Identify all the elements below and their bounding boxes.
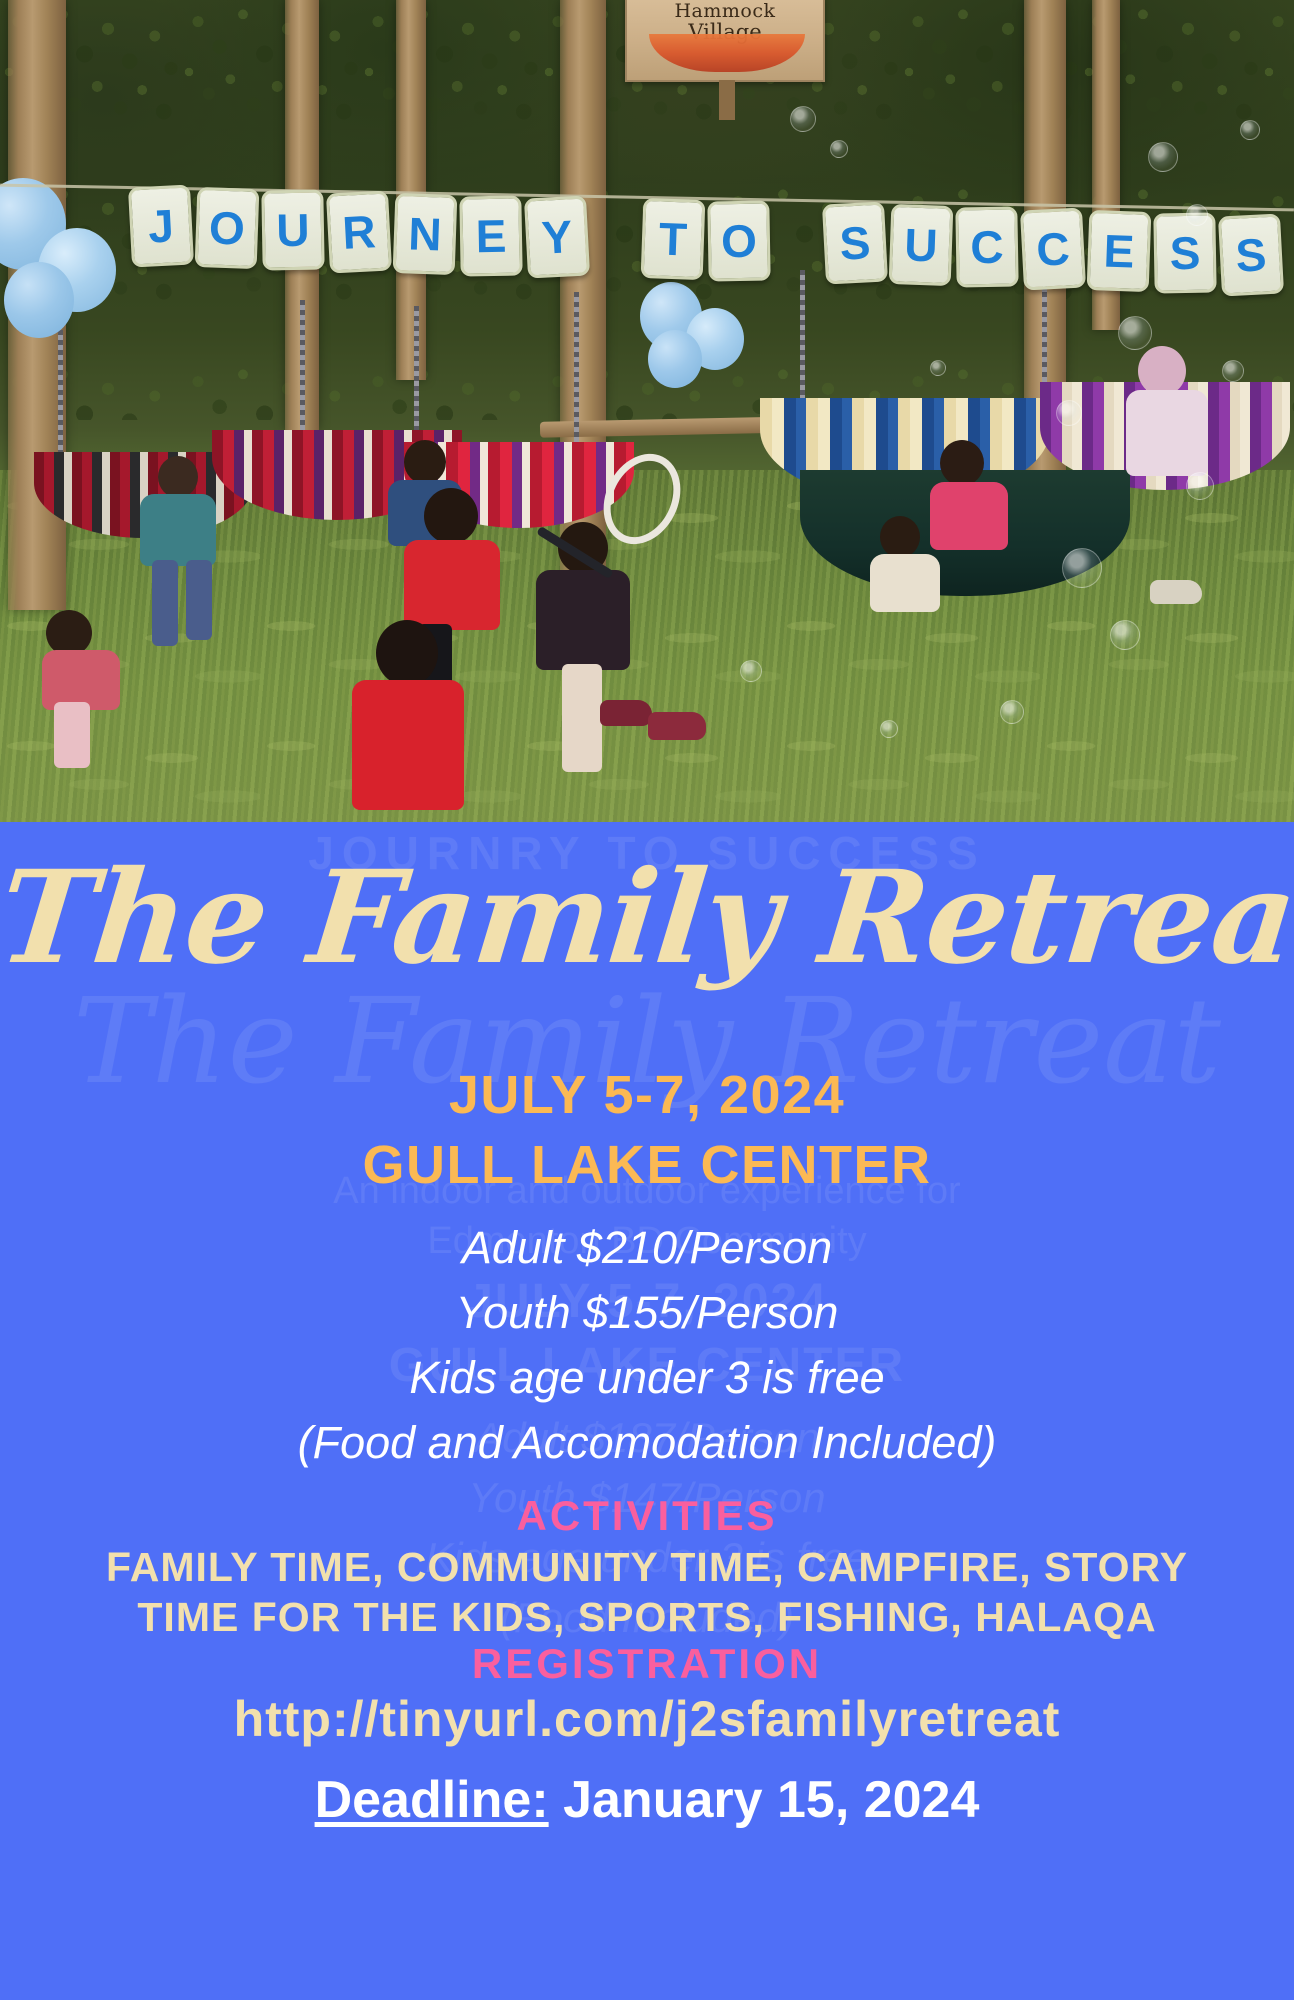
soap-bubble [930, 360, 946, 376]
shoe [648, 712, 706, 740]
event-location: GULL LAKE CENTER [0, 1134, 1294, 1196]
banner-letter-card: J [128, 184, 194, 267]
event-poster: Hammock Village [0, 0, 1294, 2000]
banner-letter-card: E [459, 195, 522, 276]
hammock-village-sign: Hammock Village [625, 0, 825, 82]
soap-bubble [1186, 204, 1208, 226]
poster-text-block: JOURNRY TO SUCCESS The Family Retreat An… [0, 822, 1294, 2000]
sign-hammock-graphic [649, 34, 805, 72]
hammock-chain [414, 306, 419, 446]
hammock-chain [800, 270, 805, 402]
soap-bubble [740, 660, 762, 682]
soap-bubble [830, 140, 848, 158]
banner-letter-card: O [707, 200, 770, 281]
price-kids: Kids age under 3 is free [0, 1352, 1294, 1404]
banner-letter-card: S [1153, 212, 1216, 293]
soap-bubble [1118, 316, 1152, 350]
soap-bubble [1222, 360, 1244, 382]
soap-bubble [1186, 472, 1214, 500]
banner-letter-card: C [955, 206, 1018, 287]
sign-line-1: Hammock [674, 0, 775, 22]
soap-bubble [1000, 700, 1024, 724]
banner-letter-card: C [1020, 207, 1086, 290]
registration-link[interactable]: http://tinyurl.com/j2sfamilyretreat [0, 1690, 1294, 1748]
price-inclusions: (Food and Accomodation Included) [0, 1417, 1294, 1469]
journey-to-success-banner: JOURNEYTOSUCCESS [130, 182, 1294, 268]
activities-heading: ACTIVITIES [0, 1492, 1294, 1540]
banner-letter-card: R [326, 190, 392, 273]
banner-letter-card: S [822, 201, 888, 284]
soap-bubble [1148, 142, 1178, 172]
hammock-chain [58, 330, 63, 456]
hammock-chain [300, 300, 305, 432]
deadline-label: Deadline: [315, 1771, 549, 1829]
soap-bubble [880, 720, 898, 738]
activities-line-2: TIME FOR THE KIDS, SPORTS, FISHING, HALA… [0, 1594, 1294, 1641]
balloon [4, 262, 74, 338]
banner-letter-card: N [393, 193, 458, 275]
deadline-date: January 15, 2024 [563, 1771, 979, 1829]
registration-heading: REGISTRATION [0, 1640, 1294, 1688]
soap-bubble [790, 106, 816, 132]
event-date: JULY 5-7, 2024 [0, 1064, 1294, 1126]
price-adult: Adult $210/Person [0, 1222, 1294, 1274]
hero-photo: Hammock Village [0, 0, 1294, 822]
activities-line-1: FAMILY TIME, COMMUNITY TIME, CAMPFIRE, S… [0, 1544, 1294, 1591]
banner-letter-card: U [261, 189, 324, 270]
price-youth: Youth $155/Person [0, 1287, 1294, 1339]
soap-bubble [1062, 548, 1102, 588]
soap-bubble [1240, 120, 1260, 140]
soap-bubble [1056, 400, 1082, 426]
deadline-line: Deadline: January 15, 2024 [0, 1770, 1294, 1830]
hammock-chain [574, 292, 579, 444]
soap-bubble [1110, 620, 1140, 650]
balloon [648, 330, 702, 388]
shoe [600, 700, 652, 726]
poster-title: The Family Retreat [0, 852, 1294, 985]
banner-letter-card: O [195, 187, 260, 269]
banner-letter-card: U [889, 204, 954, 286]
shoe [1150, 580, 1202, 604]
sign-post [719, 80, 735, 120]
banner-letter-card: T [641, 198, 706, 280]
banner-letter-card: E [1087, 210, 1152, 292]
banner-letter-card: S [1218, 213, 1284, 296]
banner-letter-card: Y [524, 195, 590, 278]
